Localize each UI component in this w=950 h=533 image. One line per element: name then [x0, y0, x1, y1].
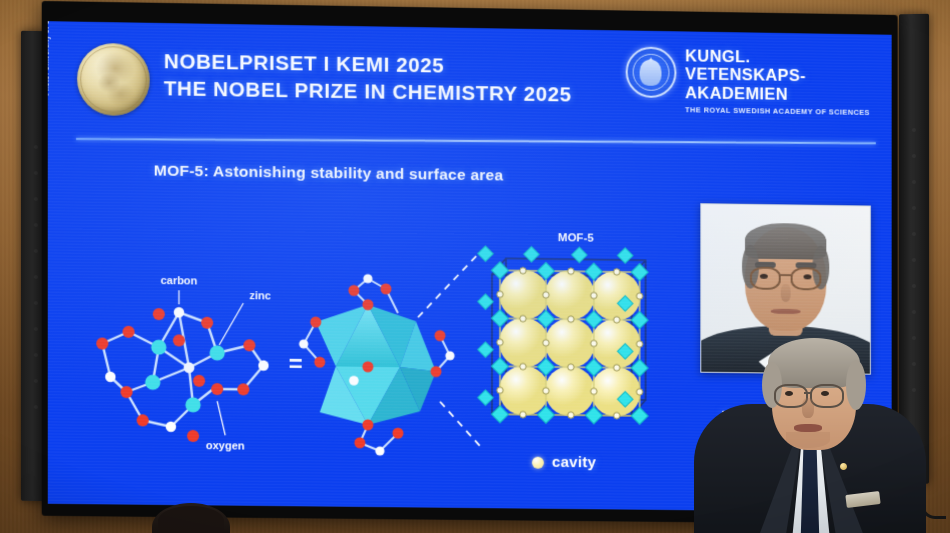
presenter-glasses-bridge [804, 392, 812, 394]
label-zinc: zinc [249, 290, 270, 302]
presenter-nose [802, 398, 814, 418]
presenter-mouth [794, 424, 822, 432]
medal-rim [80, 46, 147, 113]
presenter-lapel-pin [840, 463, 847, 470]
oxygen-atom [201, 317, 213, 329]
cavity-spheres [499, 269, 641, 417]
academy-line-3: AKADEMIEN [685, 84, 870, 105]
cavity-sphere-icon [532, 456, 544, 468]
nobel-medal-icon [77, 43, 150, 116]
lattice-title: MOF-5 [558, 232, 594, 244]
oxygen-atom [243, 339, 255, 351]
zinc-atom [151, 340, 166, 355]
title-english: THE NOBEL PRIZE IN CHEMISTRY 2025 [164, 76, 572, 109]
royal-academy-seal-icon: ✦ [625, 46, 676, 98]
presenter-person [700, 336, 915, 533]
slide-title-block: NOBELPRISET I KEMI 2025 THE NOBEL PRIZE … [164, 49, 572, 109]
photo-credit: Photo: University of California [48, 21, 51, 95]
carbon-atom [105, 372, 115, 383]
academy-subtitle: THE ROYAL SWEDISH ACADEMY OF SCIENCES [685, 106, 870, 118]
portrait-glasses-bridge [779, 274, 792, 276]
oxygen-atom [153, 308, 165, 320]
presenter-eye-left [785, 391, 793, 396]
audience-hair [158, 506, 224, 533]
academy-logo: ✦ KUNGL. VETENSKAPS- AKADEMIEN THE ROYAL… [625, 46, 869, 117]
presenter-hair-right [846, 360, 866, 410]
cavity-legend: cavity [532, 454, 596, 472]
mof5-lattice [478, 246, 648, 425]
presenter-glasses-right [810, 384, 844, 408]
presenter-eye-right [821, 391, 829, 396]
slide-subtitle: MOF-5: Astonishing stability and surface… [154, 162, 504, 185]
academy-wordmark: KUNGL. VETENSKAPS- AKADEMIEN THE ROYAL S… [685, 47, 870, 117]
portrait-nose [781, 284, 791, 303]
press-conference-scene: NOBELPRISET I KEMI 2025 THE NOBEL PRIZE … [0, 0, 950, 533]
mof5-figure: carbon zinc oxygen = [66, 190, 707, 488]
oxygen-atom [193, 375, 205, 387]
header-divider [76, 138, 876, 144]
oxygen-atom [187, 430, 199, 442]
zinc-atom [210, 345, 225, 360]
seal-figure [640, 60, 662, 86]
equals-sign: = [289, 351, 303, 378]
oxygen-atom [123, 326, 135, 338]
carbon-atom [174, 307, 184, 318]
label-carbon: carbon [161, 275, 198, 287]
zoom-leader-lines [418, 251, 480, 446]
central-oxygen-atom [184, 362, 195, 373]
oxygen-atom [120, 386, 132, 398]
label-oxygen: oxygen [206, 440, 245, 452]
presenter-chin [786, 432, 830, 448]
cavity-legend-label: cavity [552, 454, 596, 471]
oxygen-atom [137, 414, 149, 426]
oxygen-atom [96, 337, 108, 349]
oxygen-atom [211, 383, 223, 395]
polyhedral-cluster [299, 273, 455, 456]
zinc-atom [145, 375, 160, 390]
